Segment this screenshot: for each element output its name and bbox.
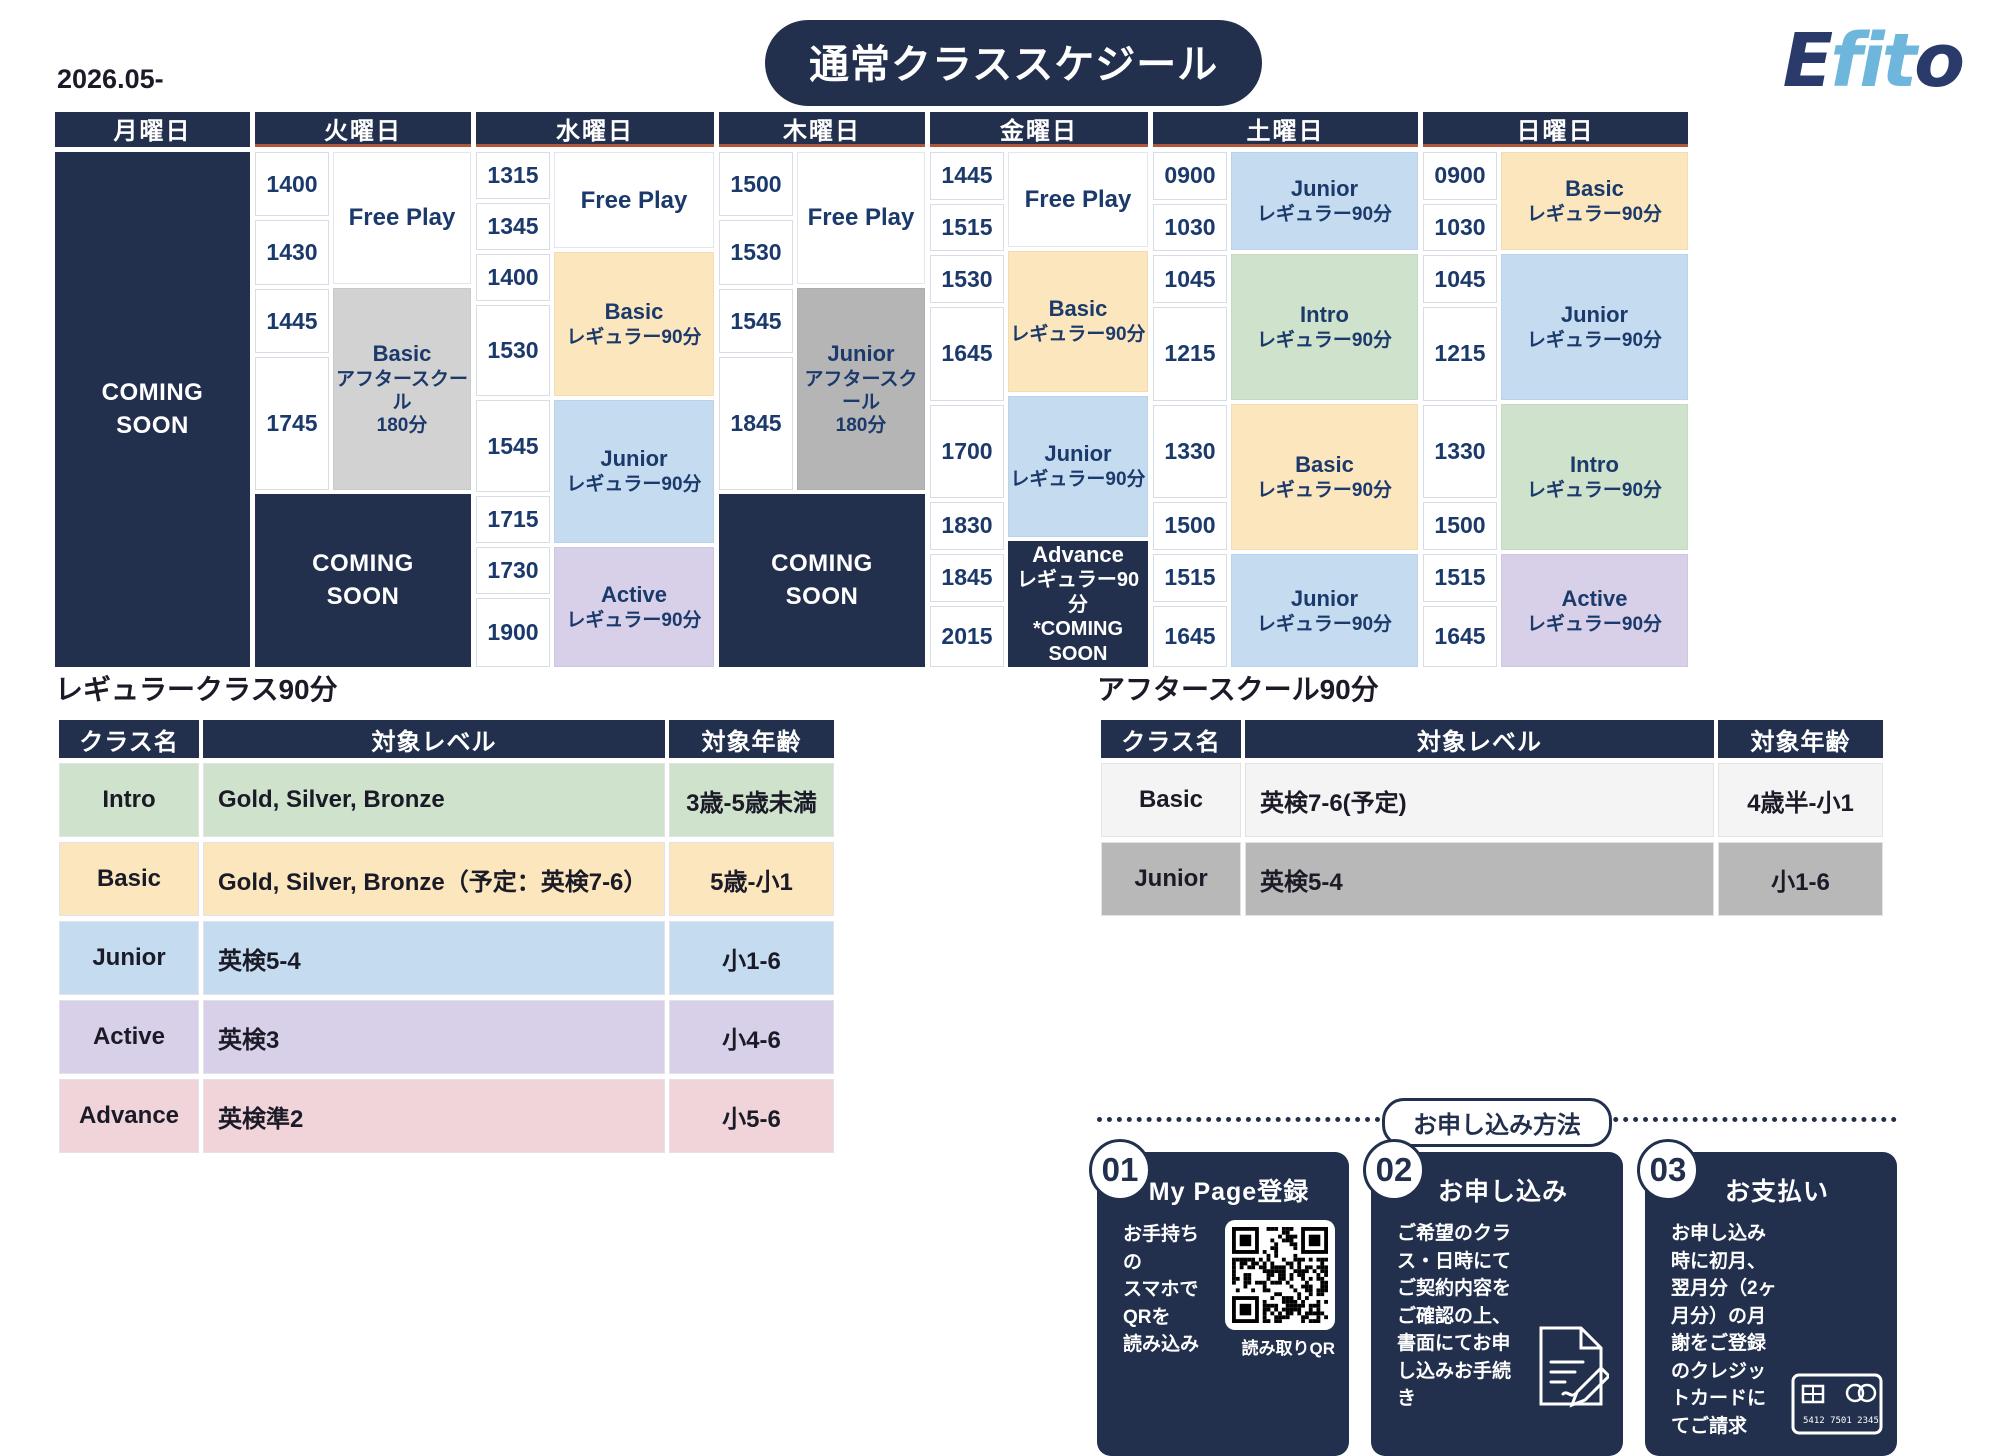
class-block-line-l2: レギュラー90分 xyxy=(566,473,701,496)
table-row: Basic英検7-6(予定)4歳半-小1 xyxy=(1101,763,1883,837)
apply-step-03: 03お支払いお申し込み時に初月、翌月分（2ヶ月分）の月謝をご登録のクレジットカー… xyxy=(1645,1152,1897,1456)
step-body: お手持ちのスマホでQRを読み込み読み取りQR xyxy=(1123,1220,1335,1359)
day-body-wednesday: 13151345140015301545171517301900Free Pla… xyxy=(476,147,714,667)
time-slot: 1645 xyxy=(1423,606,1497,667)
table-row: Junior英検5-4小1-6 xyxy=(59,921,834,995)
table-header-row: クラス名 対象レベル 対象年齢 xyxy=(1101,720,1883,758)
svg-text:5412 7501 2345: 5412 7501 2345 xyxy=(1803,1416,1879,1426)
day-column-sunday: 日曜日09001030104512151330150015151645Basic… xyxy=(1423,112,1688,667)
step-number-badge: 01 xyxy=(1089,1139,1151,1201)
day-column-wednesday: 水曜日13151345140015301545171517301900Free … xyxy=(476,112,714,667)
time-slot: 1845 xyxy=(930,554,1004,602)
day-column-monday: 月曜日COMINGSOON xyxy=(55,112,250,667)
time-slot: 1215 xyxy=(1423,307,1497,400)
day-body-thursday: 1500153015451845Free PlayJuniorアフタースクール1… xyxy=(719,147,925,667)
class-block-free-play[interactable]: Free Play xyxy=(554,152,714,248)
time-slot: 1400 xyxy=(255,152,329,216)
step-body: お申し込み時に初月、翌月分（2ヶ月分）の月謝をご登録のクレジットカードにてご請求… xyxy=(1671,1220,1883,1440)
class-block-line-l2: レギュラー90分 xyxy=(1257,479,1392,502)
class-block-line-l2: レギュラー90分 xyxy=(1257,613,1392,636)
class-block-line-l1: Junior xyxy=(1291,586,1358,613)
time-column-saturday: 09001030104512151330150015151645 xyxy=(1153,152,1227,667)
day-header-tuesday: 火曜日 xyxy=(255,112,471,147)
class-block-line-l1: Junior xyxy=(1291,176,1358,203)
time-slot: 1430 xyxy=(255,220,329,284)
table-header-row: クラス名 対象レベル 対象年齢 xyxy=(59,720,834,758)
step-number-badge: 02 xyxy=(1363,1139,1425,1201)
time-slot: 1030 xyxy=(1423,204,1497,252)
table-row: Advance英検準2小5-6 xyxy=(59,1079,834,1153)
cell-class-name: Junior xyxy=(1101,842,1241,916)
time-slot: 1515 xyxy=(1423,554,1497,602)
time-slot: 1700 xyxy=(930,405,1004,498)
day-header-sunday: 日曜日 xyxy=(1423,112,1688,147)
step-title: お申し込み xyxy=(1397,1172,1609,1208)
credit-card-icon: 5412 7501 2345 xyxy=(1791,1373,1883,1440)
time-slot: 1345 xyxy=(476,203,550,250)
coming-soon-block-thursday: COMINGSOON xyxy=(719,494,925,667)
class-block-junior[interactable]: Juniorレギュラー90分 xyxy=(1008,396,1148,537)
coming-soon-line: COMING xyxy=(771,548,873,580)
step-description: ご希望のクラス・日時にてご契約内容をご確認の上、書面にてお申し込みお手続き xyxy=(1397,1220,1525,1413)
time-slot: 1530 xyxy=(476,305,550,397)
class-column-tuesday: Free PlayBasicアフタースクール180分 xyxy=(333,152,471,490)
class-block-line-l2: アフタースクール xyxy=(798,368,924,414)
class-block-active[interactable]: Activeレギュラー90分 xyxy=(554,547,714,667)
class-block-basic[interactable]: Basicアフタースクール180分 xyxy=(333,288,471,491)
time-slot: 1745 xyxy=(255,357,329,490)
class-block-free-play[interactable]: Free Play xyxy=(333,152,471,284)
class-block-line-l2: レギュラー90分 xyxy=(566,326,701,349)
class-block-line-l1: Free Play xyxy=(808,203,915,232)
class-block-junior[interactable]: Juniorレギュラー90分 xyxy=(1231,554,1418,667)
class-block-line-l1: Free Play xyxy=(581,186,688,215)
class-block-junior[interactable]: Juniorレギュラー90分 xyxy=(1231,152,1418,250)
table-row: Junior英検5-4小1-6 xyxy=(1101,842,1883,916)
time-slot: 0900 xyxy=(1423,152,1497,200)
cell-level: 英検3 xyxy=(203,1000,665,1074)
day-header-wednesday: 水曜日 xyxy=(476,112,714,147)
class-block-line-l1: Active xyxy=(601,582,667,609)
time-slot: 1545 xyxy=(719,289,793,353)
regular-class-legend: レギュラークラス90分 クラス名 対象レベル 対象年齢 IntroGold, S… xyxy=(55,668,838,1158)
time-slot: 1500 xyxy=(1153,502,1227,550)
cell-age: 3歳-5歳未満 xyxy=(669,763,834,837)
class-block-line-l3: *COMING xyxy=(1033,617,1123,641)
step-number-badge: 03 xyxy=(1637,1139,1699,1201)
time-column-tuesday: 1400143014451745 xyxy=(255,152,329,490)
time-slot: 1330 xyxy=(1153,405,1227,498)
day-header-monday: 月曜日 xyxy=(55,112,250,147)
col-class-name: クラス名 xyxy=(1101,720,1241,758)
step-description-line: お手持ちの xyxy=(1123,1221,1217,1276)
time-slot: 1715 xyxy=(476,496,550,543)
time-slot: 1500 xyxy=(1423,502,1497,550)
coming-soon-line: SOON xyxy=(116,410,189,442)
time-slot: 2015 xyxy=(930,606,1004,667)
class-block-basic[interactable]: Basicレギュラー90分 xyxy=(1501,152,1688,250)
class-column-wednesday: Free PlayBasicレギュラー90分Juniorレギュラー90分Acti… xyxy=(554,152,714,667)
class-block-line-l1: Basic xyxy=(1565,176,1624,203)
cell-level: 英検準2 xyxy=(203,1079,665,1153)
step-description-line: スマホでQRを xyxy=(1123,1276,1217,1331)
time-slot: 1645 xyxy=(930,307,1004,400)
cell-class-name: Junior xyxy=(59,921,199,995)
day-column-thursday: 木曜日1500153015451845Free PlayJuniorアフタースク… xyxy=(719,112,925,667)
class-block-line-l1: Active xyxy=(1561,586,1627,613)
class-block-junior[interactable]: Juniorレギュラー90分 xyxy=(1501,254,1688,400)
coming-soon-block-tuesday: COMINGSOON xyxy=(255,494,471,667)
class-block-basic[interactable]: Basicレギュラー90分 xyxy=(1231,404,1418,550)
time-slot: 1730 xyxy=(476,547,550,594)
step-title: My Page登録 xyxy=(1123,1172,1335,1208)
day-body-monday: COMINGSOON xyxy=(55,147,250,667)
weekly-schedule-grid: 月曜日COMINGSOON火曜日1400143014451745Free Pla… xyxy=(55,112,1948,667)
cell-class-name: Basic xyxy=(59,842,199,916)
schedule-period: 2026.05- xyxy=(57,64,164,95)
class-block-line-l2: レギュラー90分 xyxy=(1010,323,1145,346)
qr-code-icon[interactable] xyxy=(1225,1220,1335,1330)
class-block-line-l3: 180分 xyxy=(836,414,887,437)
time-column-sunday: 09001030104512151330150015151645 xyxy=(1423,152,1497,667)
time-slot: 1515 xyxy=(1153,554,1227,602)
how-to-apply-label: お申し込み方法 xyxy=(1382,1098,1612,1147)
cell-class-name: Basic xyxy=(1101,763,1241,837)
day-column-tuesday: 火曜日1400143014451745Free PlayBasicアフタースクー… xyxy=(255,112,471,667)
class-block-junior[interactable]: Juniorアフタースクール180分 xyxy=(797,288,925,491)
step-body: ご希望のクラス・日時にてご契約内容をご確認の上、書面にてお申し込みお手続き xyxy=(1397,1220,1609,1413)
class-block-free-play[interactable]: Free Play xyxy=(797,152,925,284)
class-block-line-l2: レギュラー90分 xyxy=(1010,468,1145,491)
afterschool-class-legend: アフタースクール90分 クラス名 対象レベル 対象年齢 Basic英検7-6(予… xyxy=(1097,668,1887,921)
cell-age: 5歳-小1 xyxy=(669,842,834,916)
class-block-line-l1: Basic xyxy=(373,341,432,368)
regular-class-legend-title: レギュラークラス90分 xyxy=(55,668,838,708)
class-block-line-l1: Free Play xyxy=(349,203,456,232)
class-block-line-l1: Basic xyxy=(1295,452,1354,479)
col-level: 対象レベル xyxy=(203,720,665,758)
class-block-line-l3: 180分 xyxy=(377,414,428,437)
coming-soon-line: COMING xyxy=(102,377,204,409)
cell-class-name: Active xyxy=(59,1000,199,1074)
class-block-line-l2: レギュラー90分 xyxy=(566,609,701,632)
cell-level: 英検5-4 xyxy=(203,921,665,995)
class-block-line-l2: レギュラー90分 xyxy=(1257,329,1392,352)
table-row: IntroGold, Silver, Bronze3歳-5歳未満 xyxy=(59,763,834,837)
day-header-saturday: 土曜日 xyxy=(1153,112,1418,147)
cell-level: 英検7-6(予定) xyxy=(1245,763,1714,837)
class-block-line-l2: レギュラー90分 xyxy=(1527,613,1662,636)
qr-caption: 読み取りQR xyxy=(1242,1334,1336,1359)
coming-soon-line: SOON xyxy=(786,581,859,613)
cell-age: 小1-6 xyxy=(669,921,834,995)
day-column-friday: 金曜日14451515153016451700183018452015Free … xyxy=(930,112,1148,667)
how-to-apply-section: お申し込み方法 01My Page登録お手持ちのスマホでQRを読み込み読み取りQ… xyxy=(1097,1098,1897,1456)
class-block-line-l2: レギュラー90分 xyxy=(1257,203,1392,226)
efito-logo: Efito xyxy=(1783,24,1962,98)
time-slot: 1215 xyxy=(1153,307,1227,400)
time-slot: 1530 xyxy=(719,220,793,284)
class-block-line-l1: Advance xyxy=(1032,542,1124,569)
cell-age: 小4-6 xyxy=(669,1000,834,1074)
day-body-saturday: 09001030104512151330150015151645Juniorレギ… xyxy=(1153,147,1418,667)
class-block-advance[interactable]: Advanceレギュラー90分*COMINGSOON xyxy=(1008,541,1148,667)
time-slot: 1900 xyxy=(476,598,550,667)
class-column-thursday: Free PlayJuniorアフタースクール180分 xyxy=(797,152,925,490)
class-block-line-l2: レギュラー90分 xyxy=(1009,568,1147,617)
step-description-line: ご希望のクラス・日時にてご契約内容をご確認の上、書面にてお申し込みお手続き xyxy=(1397,1220,1525,1413)
cell-class-name: Advance xyxy=(59,1079,199,1153)
apply-step-02: 02お申し込みご希望のクラス・日時にてご契約内容をご確認の上、書面にてお申し込み… xyxy=(1371,1152,1623,1456)
day-body-tuesday: 1400143014451745Free PlayBasicアフタースクール18… xyxy=(255,147,471,667)
afterschool-legend-title: アフタースクール90分 xyxy=(1097,668,1887,708)
class-block-line-l1: Free Play xyxy=(1025,185,1132,214)
apply-steps: 01My Page登録お手持ちのスマホでQRを読み込み読み取りQR02お申し込み… xyxy=(1097,1152,1897,1456)
class-column-friday: Free PlayBasicレギュラー90分Juniorレギュラー90分Adva… xyxy=(1008,152,1148,667)
time-slot: 1645 xyxy=(1153,606,1227,667)
class-block-free-play[interactable]: Free Play xyxy=(1008,152,1148,247)
class-block-line-l2: レギュラー90分 xyxy=(1527,203,1662,226)
time-slot: 1545 xyxy=(476,400,550,492)
day-header-thursday: 木曜日 xyxy=(719,112,925,147)
day-body-sunday: 09001030104512151330150015151645Basicレギュ… xyxy=(1423,147,1688,667)
how-to-apply-banner: お申し込み方法 xyxy=(1097,1098,1897,1138)
document-pen-icon xyxy=(1533,1324,1609,1413)
cell-class-name: Intro xyxy=(59,763,199,837)
time-slot: 1445 xyxy=(255,289,329,353)
time-slot: 1045 xyxy=(1423,255,1497,303)
page-title: 通常クラススケジール xyxy=(765,20,1262,106)
table-row: BasicGold, Silver, Bronze（予定：英検7-6）5歳-小1 xyxy=(59,842,834,916)
class-column-saturday: Juniorレギュラー90分Introレギュラー90分Basicレギュラー90分… xyxy=(1231,152,1418,667)
time-slot: 1445 xyxy=(930,152,1004,200)
cell-level: Gold, Silver, Bronze（予定：英検7-6） xyxy=(203,842,665,916)
time-slot: 1030 xyxy=(1153,204,1227,252)
step-description-line: お申し込み時に初月、翌月分（2ヶ月分）の月謝をご登録のクレジットカードにてご請求 xyxy=(1671,1220,1783,1440)
logo-part-fit: fit xyxy=(1830,18,1914,104)
col-age: 対象年齢 xyxy=(1718,720,1883,758)
afterschool-class-table: クラス名 対象レベル 対象年齢 Basic英検7-6(予定)4歳半-小1Juni… xyxy=(1097,715,1887,921)
class-block-line-l1: Intro xyxy=(1570,452,1619,479)
time-slot: 0900 xyxy=(1153,152,1227,200)
class-block-line-l1: Basic xyxy=(605,299,664,326)
step-description: お申し込み時に初月、翌月分（2ヶ月分）の月謝をご登録のクレジットカードにてご請求 xyxy=(1671,1220,1783,1440)
time-slot: 1830 xyxy=(930,502,1004,550)
logo-part-e: E xyxy=(1783,18,1831,104)
coming-soon-block-monday: COMINGSOON xyxy=(55,152,250,667)
class-block-basic[interactable]: Basicレギュラー90分 xyxy=(554,252,714,395)
time-slot: 1500 xyxy=(719,152,793,216)
class-block-line-l1: Junior xyxy=(827,341,894,368)
class-block-line-l1: Junior xyxy=(1044,441,1111,468)
col-class-name: クラス名 xyxy=(59,720,199,758)
class-block-active[interactable]: Activeレギュラー90分 xyxy=(1501,554,1688,667)
time-slot: 1515 xyxy=(930,204,1004,252)
time-column-thursday: 1500153015451845 xyxy=(719,152,793,490)
logo-part-o: o xyxy=(1914,18,1962,104)
class-block-line-l2: アフタースクール xyxy=(334,368,470,414)
qr-block: 読み取りQR xyxy=(1225,1220,1335,1359)
day-column-saturday: 土曜日09001030104512151330150015151645Junio… xyxy=(1153,112,1418,667)
cell-level: Gold, Silver, Bronze xyxy=(203,763,665,837)
class-block-line-l1: Basic xyxy=(1049,296,1108,323)
col-age: 対象年齢 xyxy=(669,720,834,758)
time-slot: 1045 xyxy=(1153,255,1227,303)
time-slot: 1530 xyxy=(930,255,1004,303)
coming-soon-line: SOON xyxy=(327,581,400,613)
class-block-line-l1: Junior xyxy=(600,446,667,473)
class-block-intro[interactable]: Introレギュラー90分 xyxy=(1501,404,1688,550)
class-block-basic[interactable]: Basicレギュラー90分 xyxy=(1008,251,1148,392)
time-column-friday: 14451515153016451700183018452015 xyxy=(930,152,1004,667)
coming-soon-line: COMING xyxy=(312,548,414,580)
class-block-line-l1: Intro xyxy=(1300,302,1349,329)
step-description-line: 読み込み xyxy=(1123,1331,1217,1359)
cell-level: 英検5-4 xyxy=(1245,842,1714,916)
class-block-line-l1: Junior xyxy=(1561,302,1628,329)
apply-step-01: 01My Page登録お手持ちのスマホでQRを読み込み読み取りQR xyxy=(1097,1152,1349,1456)
cell-age: 4歳半-小1 xyxy=(1718,763,1883,837)
class-block-intro[interactable]: Introレギュラー90分 xyxy=(1231,254,1418,400)
page-header: 2026.05- 通常クラススケジール Efito xyxy=(0,0,2000,112)
step-description: お手持ちのスマホでQRを読み込み xyxy=(1123,1221,1217,1359)
class-column-sunday: Basicレギュラー90分Juniorレギュラー90分Introレギュラー90分… xyxy=(1501,152,1688,667)
col-level: 対象レベル xyxy=(1245,720,1714,758)
time-slot: 1845 xyxy=(719,357,793,490)
day-header-friday: 金曜日 xyxy=(930,112,1148,147)
table-row: Active英検3小4-6 xyxy=(59,1000,834,1074)
cell-age: 小1-6 xyxy=(1718,842,1883,916)
time-slot: 1330 xyxy=(1423,405,1497,498)
time-column-wednesday: 13151345140015301545171517301900 xyxy=(476,152,550,667)
cell-age: 小5-6 xyxy=(669,1079,834,1153)
regular-class-table: クラス名 対象レベル 対象年齢 IntroGold, Silver, Bronz… xyxy=(55,715,838,1158)
class-block-junior[interactable]: Juniorレギュラー90分 xyxy=(554,400,714,543)
step-title: お支払い xyxy=(1671,1172,1883,1208)
time-slot: 1400 xyxy=(476,254,550,301)
day-body-friday: 14451515153016451700183018452015Free Pla… xyxy=(930,147,1148,667)
time-slot: 1315 xyxy=(476,152,550,199)
class-block-line-l4: SOON xyxy=(1049,642,1108,666)
class-block-line-l2: レギュラー90分 xyxy=(1527,329,1662,352)
class-block-line-l2: レギュラー90分 xyxy=(1527,479,1662,502)
